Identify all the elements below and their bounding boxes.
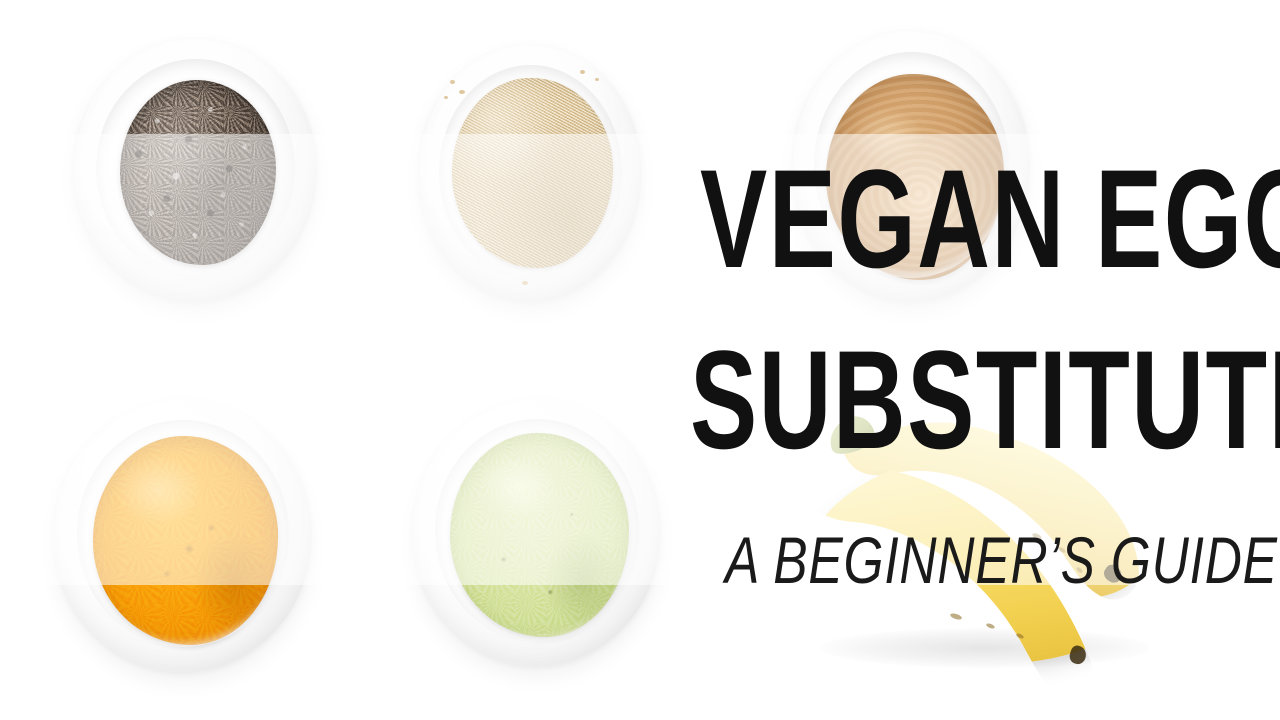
flax-crumb — [595, 78, 599, 81]
pumpkin-puree-contents — [93, 436, 279, 644]
mashed-avocado-contents — [450, 433, 629, 637]
subtitle: A BEGINNER’S GUIDE — [725, 522, 1138, 598]
banana-shadow — [820, 628, 1150, 668]
chia-seed-gel-contents — [120, 80, 276, 265]
flax-crumb — [580, 70, 585, 74]
flax-crumb — [450, 80, 455, 84]
ingredient-bowl-mashed-avocado — [413, 398, 661, 666]
title-line-1: VEGAN EGG — [700, 150, 1100, 287]
thumbnail-canvas: VEGAN EGG SUBSTITUTES A BEGINNER’S GUIDE — [0, 0, 1280, 720]
flax-crumb — [444, 96, 448, 99]
ingredient-bowl-pumpkin-puree — [54, 398, 312, 672]
ground-flaxseed-contents — [452, 78, 613, 269]
flax-crumb — [459, 90, 465, 94]
ingredient-bowl-chia-seed-gel — [74, 38, 317, 302]
ingredient-bowl-ground-flaxseed — [419, 44, 642, 302]
title-line-2: SUBSTITUTES — [690, 331, 1097, 468]
title-block: VEGAN EGG SUBSTITUTES A BEGINNER’S GUIDE — [695, 150, 1255, 598]
flax-crumb — [522, 281, 528, 285]
banana-speck — [950, 612, 963, 620]
